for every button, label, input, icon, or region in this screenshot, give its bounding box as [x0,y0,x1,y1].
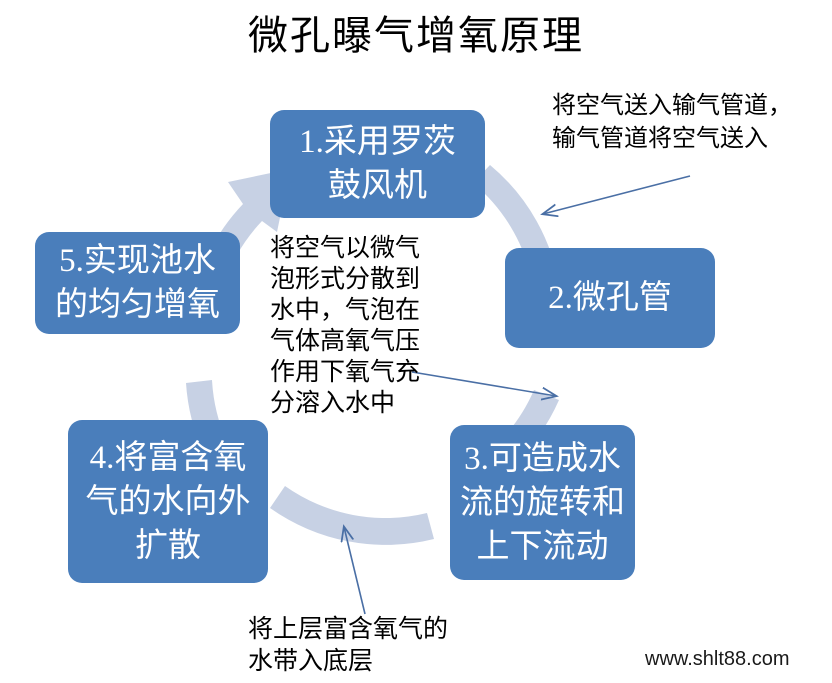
cycle-node-3[interactable]: 3.可造成水 流的旋转和 上下流动 [450,425,635,580]
cycle-node-5-label: 5.实现池水 的均匀增氧 [43,239,232,327]
cycle-node-4[interactable]: 4.将富含氧 气的水向外 扩散 [68,420,268,583]
diagram-canvas: 微孔曝气增氧原理 1.采用罗茨 鼓风机 2.微孔管 [0,0,832,683]
cycle-node-2-label: 2.微孔管 [513,276,707,320]
watermark-url: www.shlt88.com [645,648,790,671]
annotation-bottom: 将上层富含氧气的 水带入底层 [248,614,448,678]
cycle-node-5[interactable]: 5.实现池水 的均匀增氧 [35,232,240,334]
pointer-top-right-arrow [543,176,690,214]
annotation-center: 将空气以微气 泡形式分散到 水中，气泡在 气体高氧气压 作用下氧气充 分溶入水中 [270,233,420,419]
cycle-node-1[interactable]: 1.采用罗茨 鼓风机 [270,110,485,218]
pointer-center-arrow [412,372,556,396]
cycle-node-2[interactable]: 2.微孔管 [505,248,715,348]
annotation-top-right: 将空气送入输气管道， 输气管道将空气送入 [552,90,792,156]
cycle-node-4-label: 4.将富含氧 气的水向外 扩散 [76,436,260,568]
cycle-node-3-label: 3.可造成水 流的旋转和 上下流动 [458,437,627,569]
ring-segment-3-4 [270,486,434,545]
cycle-node-1-label: 1.采用罗茨 鼓风机 [278,120,477,208]
